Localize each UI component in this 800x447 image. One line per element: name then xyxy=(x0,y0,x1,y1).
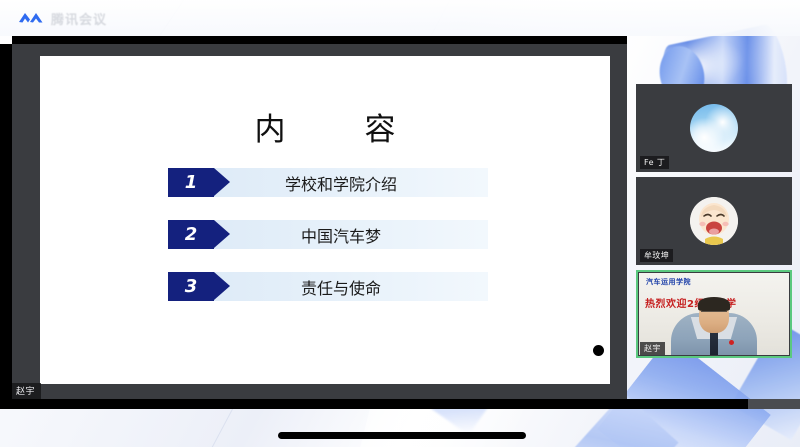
sky-clouds-avatar-icon xyxy=(690,104,738,152)
pointer-dot-icon xyxy=(593,345,604,356)
agenda-item-label: 责任与使命 xyxy=(214,275,488,299)
agenda-item: 1 学校和学院介绍 xyxy=(168,168,488,197)
tencent-meeting-chevrons-icon xyxy=(18,11,44,25)
letterbox-top xyxy=(12,36,627,44)
video-banner-top-text: 汽车运用学院 xyxy=(646,277,691,287)
person-lapel-pin xyxy=(729,340,734,345)
shared-slide: 内 容 1 学校和学院介绍 2 中国汽车梦 3 责任与使命 xyxy=(40,56,610,384)
cartoon-baby-avatar-icon xyxy=(690,197,738,245)
letterbox-right-block xyxy=(748,399,800,409)
slide-title: 内 容 xyxy=(40,104,610,149)
title-bar: 腾讯会议 xyxy=(0,0,800,36)
shared-screen-stage[interactable]: 内 容 1 学校和学院介绍 2 中国汽车梦 3 责任与使命 赵宇 xyxy=(12,44,627,399)
agenda-item: 2 中国汽车梦 xyxy=(168,220,488,249)
person-glasses-icon xyxy=(701,311,727,318)
brand-logo: 腾讯会议 xyxy=(18,9,107,28)
person-hair xyxy=(698,297,730,311)
participant-name: Fe 丁 xyxy=(640,156,669,169)
agenda-number-badge: 3 xyxy=(168,272,214,301)
presenter-name-tag: 赵宇 xyxy=(12,383,41,399)
participant-tile[interactable]: Fe 丁 xyxy=(636,84,792,172)
letterbox-bottom xyxy=(0,399,800,409)
agenda-list: 1 学校和学院介绍 2 中国汽车梦 3 责任与使命 xyxy=(168,168,488,324)
agenda-number-badge: 1 xyxy=(168,168,214,197)
participant-name: 牟玟坤 xyxy=(640,249,673,262)
meeting-toolbar[interactable] xyxy=(278,432,526,439)
meeting-window: 腾讯会议 内 容 1 学校和学院介绍 2 中国汽车梦 3 责任与使命 xyxy=(0,0,800,447)
agenda-item-label: 中国汽车梦 xyxy=(214,223,488,247)
participant-filmstrip: Fe 丁 xyxy=(636,84,792,358)
agenda-item: 3 责任与使命 xyxy=(168,272,488,301)
participant-tile[interactable]: 汽车运用学院 热烈欢迎2级新同学 赵宇 xyxy=(636,270,792,358)
agenda-number-badge: 2 xyxy=(168,220,214,249)
letterbox-left xyxy=(0,44,12,409)
participant-name: 赵宇 xyxy=(640,342,665,355)
participant-tile[interactable]: 牟玟坤 xyxy=(636,177,792,265)
brand-name: 腾讯会议 xyxy=(51,9,107,28)
agenda-item-label: 学校和学院介绍 xyxy=(214,171,488,195)
